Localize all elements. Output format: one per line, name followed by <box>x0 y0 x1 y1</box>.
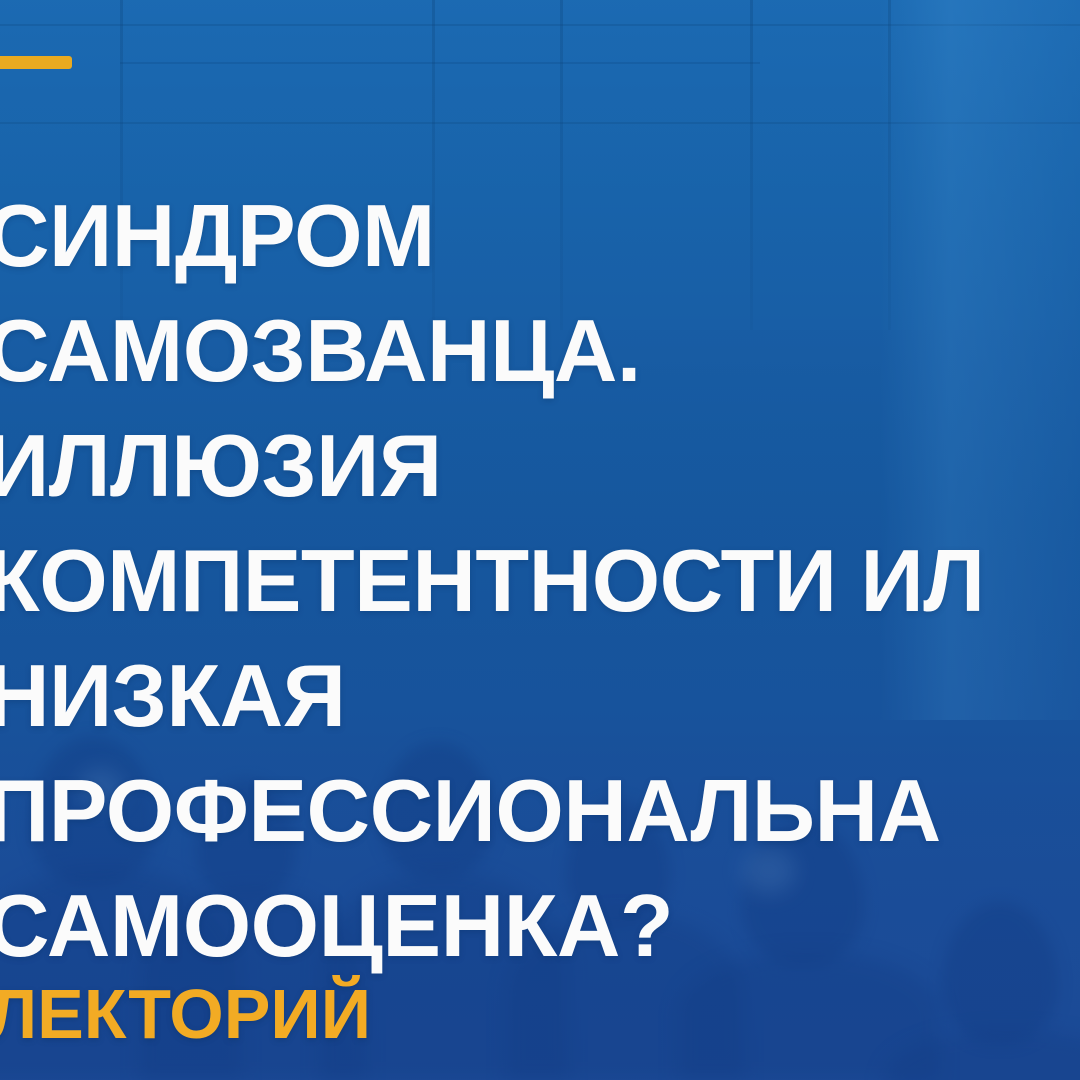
page-title: СИНДРОМ САМОЗВАНЦА. ИЛЛЮЗИЯ КОМПЕТЕНТНОС… <box>0 178 1080 983</box>
headline-line: НИЗКАЯ <box>0 638 1080 753</box>
headline-line: ИЛЛЮЗИЯ <box>0 408 1080 523</box>
headline-line: САМОЗВАНЦА. <box>0 293 1080 408</box>
headline-line: КОМПЕТЕНТНОСТИ ИЛ <box>0 523 1080 638</box>
headline-line: ПРОФЕССИОНАЛЬНА <box>0 753 1080 868</box>
headline-line: САМООЦЕНКА? <box>0 868 1080 983</box>
accent-bar <box>0 56 72 69</box>
headline-line: СИНДРОМ <box>0 178 1080 293</box>
poster-banner: СИНДРОМ САМОЗВАНЦА. ИЛЛЮЗИЯ КОМПЕТЕНТНОС… <box>0 0 1080 1080</box>
kicker-label: ЛЕКТОРИЙ <box>0 975 371 1053</box>
